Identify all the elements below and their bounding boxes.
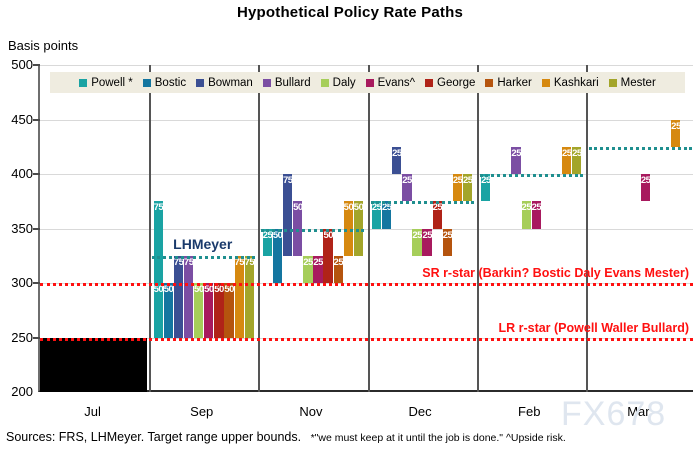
category-separator xyxy=(477,65,479,392)
legend-item-label: Powell * xyxy=(91,77,133,89)
bar-value-label: 50 xyxy=(154,285,163,295)
legend-swatch-icon xyxy=(609,79,617,87)
bar-value-label: 25 xyxy=(422,231,431,241)
bar-value-label: 25 xyxy=(572,149,581,159)
lhmeyer-path-segment xyxy=(261,229,364,232)
plot-area: 5075507575505050507575255075502525502550… xyxy=(38,65,693,392)
gridline xyxy=(40,229,693,230)
bar-segment: 75 xyxy=(184,256,193,338)
y-axis-tick-label: 250 xyxy=(0,330,33,345)
bar-value-label: 25 xyxy=(412,231,421,241)
legend-item-bowman[interactable]: Bowman xyxy=(196,77,253,89)
reference-line-label: SR r-star (Barkin? Bostic Daly Evans Mes… xyxy=(422,266,689,280)
bar-segment: 25 xyxy=(463,174,472,201)
bar-segment: 25 xyxy=(481,174,490,201)
bar-value-label: 25 xyxy=(334,258,343,268)
bar-value-label: 75 xyxy=(154,203,163,213)
bar-segment: 75 xyxy=(235,256,244,338)
chart-container: Hypothetical Policy Rate Paths Basis poi… xyxy=(0,0,700,457)
legend-swatch-icon xyxy=(79,79,87,87)
chart-legend: Powell *BosticBowmanBullardDalyEvans^Geo… xyxy=(50,72,685,93)
bar-segment: 50 xyxy=(204,283,213,338)
lhmeyer-path-segment xyxy=(152,256,255,259)
bar-value-label: 25 xyxy=(313,258,322,268)
bar-segment: 75 xyxy=(245,256,254,338)
bar-value-label: 25 xyxy=(532,203,541,213)
bar-segment: 25 xyxy=(532,201,541,228)
bar-value-label: 50 xyxy=(214,285,223,295)
legend-item-evans[interactable]: Evans^ xyxy=(366,77,415,89)
lhmeyer-path-segment xyxy=(371,201,474,204)
legend-swatch-icon xyxy=(485,79,493,87)
legend-item-label: Evans^ xyxy=(378,77,415,89)
y-axis-tick xyxy=(33,64,40,66)
bar-segment: 50 xyxy=(154,283,163,338)
category-separator xyxy=(586,65,588,392)
legend-item-label: Bullard xyxy=(275,77,311,89)
y-axis-tick-label: 500 xyxy=(0,57,33,72)
category-separator xyxy=(368,65,370,392)
x-axis-category-label: Sep xyxy=(147,404,256,419)
bar-segment: 25 xyxy=(422,229,431,256)
bar-segment: 50 xyxy=(323,229,332,284)
legend-item-label: Harker xyxy=(497,77,532,89)
bar-segment: 25 xyxy=(402,174,411,201)
bar-value-label: 25 xyxy=(263,231,272,241)
bar-segment: 25 xyxy=(562,147,571,174)
lhmeyer-path-segment xyxy=(480,174,583,177)
bar-segment: 25 xyxy=(392,147,401,174)
bar-value-label: 50 xyxy=(273,231,282,241)
bar-value-label: 25 xyxy=(522,203,531,213)
reference-line-sr-r-star xyxy=(40,283,693,286)
bar-value-label: 25 xyxy=(392,149,401,159)
y-axis-tick-label: 300 xyxy=(0,275,33,290)
x-axis-category-label: Jul xyxy=(38,404,147,419)
bar-segment: 75 xyxy=(174,256,183,338)
bar-segment: 25 xyxy=(453,174,462,201)
legend-item-label: Bostic xyxy=(155,77,186,89)
legend-swatch-icon xyxy=(425,79,433,87)
y-axis-tick xyxy=(33,282,40,284)
bar-value-label: 25 xyxy=(463,176,472,186)
bar-segment: 25 xyxy=(671,120,680,147)
x-axis-category-label: Nov xyxy=(256,404,365,419)
bar-segment: 25 xyxy=(313,256,322,283)
reference-line-lr-r-star xyxy=(40,338,693,341)
bar-segment: 25 xyxy=(522,201,531,228)
bar-value-label: 25 xyxy=(453,176,462,186)
legend-swatch-icon xyxy=(366,79,374,87)
bar-segment: 25 xyxy=(511,147,520,174)
bar-value-label: 25 xyxy=(382,203,391,213)
legend-item-powell[interactable]: Powell * xyxy=(79,77,133,89)
y-axis-tick xyxy=(33,337,40,339)
watermark: FX678 xyxy=(561,395,666,434)
bar-value-label: 50 xyxy=(323,231,332,241)
bar-segment: 25 xyxy=(572,147,581,174)
y-axis-tick xyxy=(33,228,40,230)
y-axis-tick-label: 350 xyxy=(0,221,33,236)
lhmeyer-label: LHMeyer xyxy=(173,236,232,252)
sources-note: *"we must keep at it until the job is do… xyxy=(311,432,566,444)
bar-value-label: 50 xyxy=(354,203,363,213)
legend-item-label: Mester xyxy=(621,77,656,89)
bar-value-label: 75 xyxy=(235,258,244,268)
bar-value-label: 25 xyxy=(433,203,442,213)
bar-segment: 75 xyxy=(283,174,292,256)
bar-value-label: 25 xyxy=(641,176,650,186)
bar-value-label: 25 xyxy=(511,149,520,159)
legend-item-label: Kashkari xyxy=(554,77,599,89)
bar-segment: 50 xyxy=(214,283,223,338)
legend-item-daly[interactable]: Daly xyxy=(321,77,356,89)
category-separator xyxy=(149,65,151,392)
legend-swatch-icon xyxy=(263,79,271,87)
bar-value-label: 25 xyxy=(372,203,381,213)
legend-item-mester[interactable]: Mester xyxy=(609,77,656,89)
legend-item-label: Daly xyxy=(333,77,356,89)
bar-value-label: 25 xyxy=(303,258,312,268)
legend-item-kashkari[interactable]: Kashkari xyxy=(542,77,599,89)
y-axis-tick-label: 200 xyxy=(0,384,33,399)
bar-value-label: 50 xyxy=(164,285,173,295)
bar-segment: 25 xyxy=(443,229,452,256)
bar-segment: 25 xyxy=(263,229,272,256)
bar-value-label: 50 xyxy=(293,203,302,213)
sources-main: Sources: FRS, LHMeyer. Target range uppe… xyxy=(6,430,301,444)
bar-segment: 25 xyxy=(303,256,312,283)
legend-item-george[interactable]: George xyxy=(425,77,475,89)
legend-item-bullard[interactable]: Bullard xyxy=(263,77,311,89)
legend-swatch-icon xyxy=(196,79,204,87)
bar-value-label: 75 xyxy=(174,258,183,268)
bar-value-label: 25 xyxy=(402,176,411,186)
bar-segment: 25 xyxy=(641,174,650,201)
bar-value-label: 50 xyxy=(204,285,213,295)
bar-segment: 75 xyxy=(154,201,163,283)
bar-segment: 25 xyxy=(334,256,343,283)
bar-value-label: 25 xyxy=(481,176,490,186)
bar-value-label: 50 xyxy=(224,285,233,295)
legend-item-label: Bowman xyxy=(208,77,253,89)
bar-segment: 50 xyxy=(224,283,233,338)
bar-value-label: 50 xyxy=(344,203,353,213)
legend-item-label: George xyxy=(437,77,475,89)
bar-segment: 25 xyxy=(433,201,442,228)
reference-line-label: LR r-star (Powell Waller Bullard) xyxy=(498,321,689,335)
gridline xyxy=(40,120,693,121)
bar-value-label: 75 xyxy=(245,258,254,268)
y-axis-unit-label: Basis points xyxy=(8,38,78,53)
bar-value-label: 25 xyxy=(562,149,571,159)
bar-value-label: 25 xyxy=(671,122,680,132)
x-axis-category-label: Dec xyxy=(366,404,475,419)
gridline xyxy=(40,174,693,175)
bar-value-label: 75 xyxy=(184,258,193,268)
bar-value-label: 50 xyxy=(194,285,203,295)
legend-item-harker[interactable]: Harker xyxy=(485,77,532,89)
jul-current-range-block xyxy=(40,338,147,393)
bar-value-label: 25 xyxy=(443,231,452,241)
bar-segment: 50 xyxy=(273,229,282,284)
legend-swatch-icon xyxy=(542,79,550,87)
bar-segment: 50 xyxy=(164,283,173,338)
legend-swatch-icon xyxy=(143,79,151,87)
chart-title: Hypothetical Policy Rate Paths xyxy=(0,4,700,21)
y-axis-tick xyxy=(33,119,40,121)
y-axis-tick-label: 400 xyxy=(0,166,33,181)
chart-sources: Sources: FRS, LHMeyer. Target range uppe… xyxy=(6,430,566,444)
gridline xyxy=(40,65,693,66)
y-axis-tick xyxy=(33,173,40,175)
bar-segment: 25 xyxy=(412,229,421,256)
legend-swatch-icon xyxy=(321,79,329,87)
category-separator xyxy=(258,65,260,392)
legend-item-bostic[interactable]: Bostic xyxy=(143,77,186,89)
bar-segment: 50 xyxy=(194,283,203,338)
lhmeyer-path-segment xyxy=(589,147,692,150)
y-axis-tick-label: 450 xyxy=(0,112,33,127)
bar-segment: 25 xyxy=(382,201,391,228)
bar-segment: 25 xyxy=(372,201,381,228)
bar-value-label: 75 xyxy=(283,176,292,186)
